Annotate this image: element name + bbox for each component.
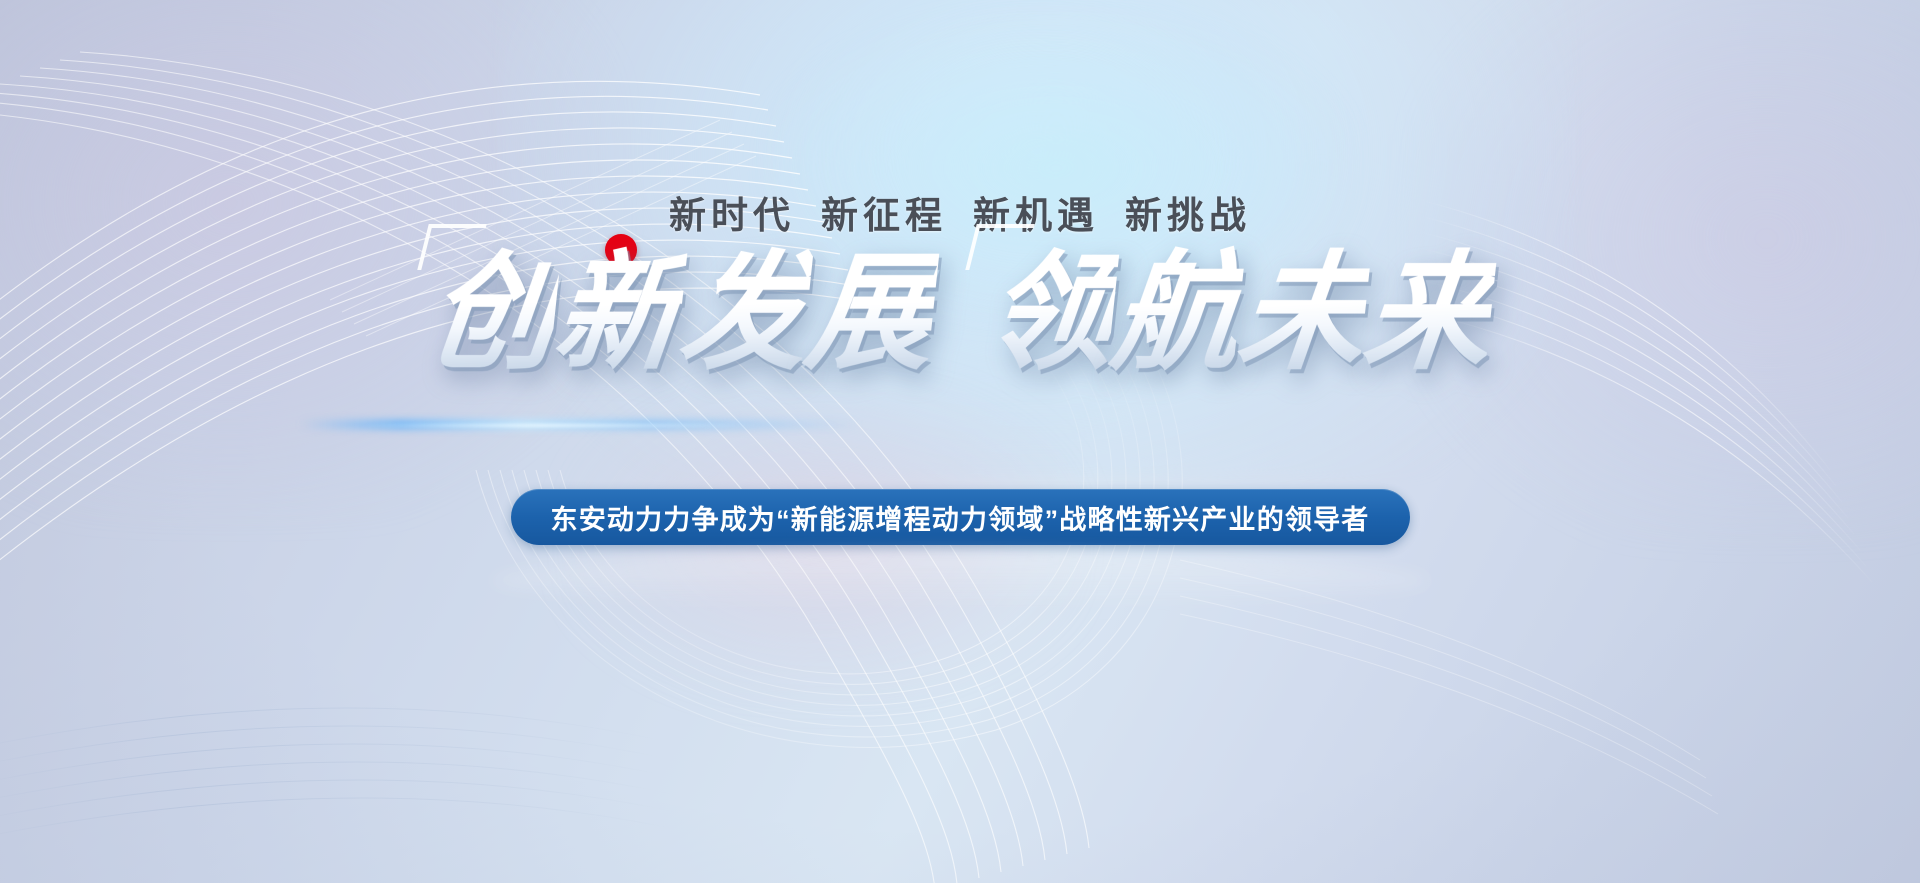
pill-reflection [490, 551, 1430, 611]
headline-char-6: 航 [1105, 238, 1247, 389]
headline-group-left: 创 新 发 展 [429, 238, 933, 389]
light-streak-highlight [360, 424, 760, 427]
headline-char-8: 来 [1357, 238, 1499, 389]
banner-content: 新时代新征程新机遇新挑战 创 新 发 展 领 航 未 来 [0, 0, 1920, 883]
tagline: 新时代新征程新机遇新挑战 [0, 185, 1920, 239]
slogan-pill: 东安动力力争成为“新能源增程动力领域”战略性新兴产业的领导者 [511, 489, 1410, 545]
tagline-segment-3: 新机遇 [973, 195, 1099, 236]
tagline-segment-1: 新时代 [669, 195, 795, 236]
headline-char-2: 新 [547, 238, 689, 389]
headline-char-1: 创 [421, 238, 563, 389]
headline-char-4: 展 [799, 238, 941, 389]
tagline-segment-2: 新征程 [821, 195, 947, 236]
pill-wrapper: 东安动力力争成为“新能源增程动力领域”战略性新兴产业的领导者 [0, 489, 1920, 545]
headline-group-right: 领 航 未 来 [987, 238, 1491, 389]
headline-char-3: 发 [673, 238, 815, 389]
headline-char-5: 领 [979, 238, 1121, 389]
banner-stage: 新时代新征程新机遇新挑战 创 新 发 展 领 航 未 来 [0, 0, 1920, 883]
headline-char-7: 未 [1231, 238, 1373, 389]
tagline-segment-4: 新挑战 [1125, 195, 1251, 236]
headline-wrapper: 创 新 发 展 领 航 未 来 [0, 238, 1920, 389]
headline: 创 新 发 展 领 航 未 来 [405, 238, 1515, 389]
